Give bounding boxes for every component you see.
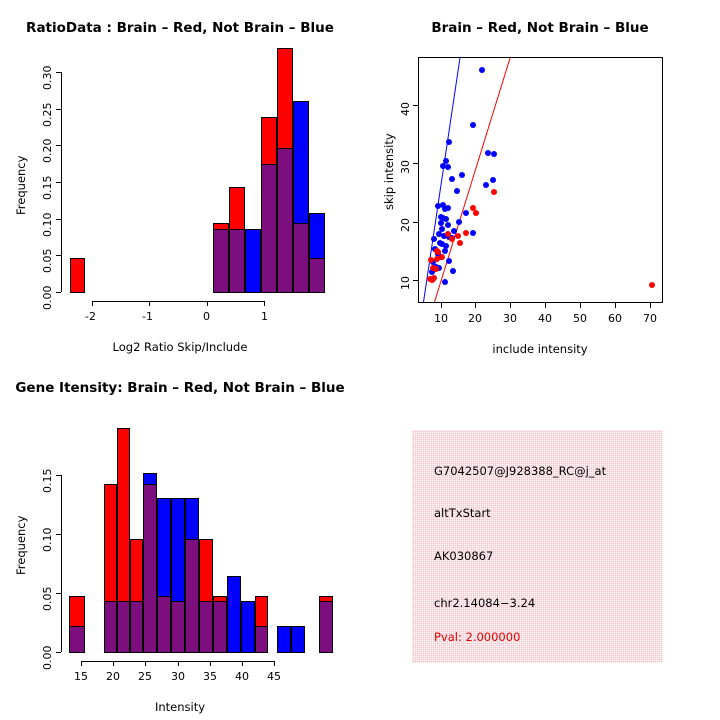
ratio-ytick-1: 0.05 xyxy=(41,249,54,274)
bar-overlap xyxy=(309,258,325,293)
scatter-point xyxy=(454,188,460,194)
gene-xtick-4: 35 xyxy=(203,670,217,683)
bar-blue xyxy=(227,576,241,653)
scatter-point xyxy=(445,164,451,170)
scatter-point xyxy=(439,226,445,232)
gene-ytick-2: 0.10 xyxy=(41,528,54,553)
scatter-point xyxy=(449,236,455,242)
gene-ytick-1: 0.05 xyxy=(41,587,54,612)
ratio-ytick-2: 0.10 xyxy=(41,213,54,238)
scatter-point xyxy=(456,219,462,225)
ratio-xtick-1: -1 xyxy=(142,310,153,323)
scatter-plot-frame xyxy=(418,57,663,303)
ratio-xtick-3: 1 xyxy=(261,310,268,323)
ratio-ytick-5: 0.25 xyxy=(41,103,54,128)
scatter-point xyxy=(431,236,437,242)
bar-overlap xyxy=(171,601,185,653)
bar-overlap xyxy=(117,601,130,653)
scatter-point xyxy=(445,222,451,228)
bar-blue xyxy=(245,229,261,293)
panel-gene-info: G7042507@J928388_RC@j_at altTxStart AK03… xyxy=(412,430,663,663)
bar-overlap xyxy=(130,601,143,653)
scatter-point xyxy=(455,233,461,239)
scatter-point xyxy=(463,230,469,236)
scatter-xtick-4: 50 xyxy=(573,312,587,325)
scatter-point xyxy=(431,275,437,281)
gene-xtick-3: 30 xyxy=(171,670,185,683)
fit-line-brain xyxy=(434,57,511,302)
bar-overlap xyxy=(319,601,333,653)
bar-overlap xyxy=(213,229,229,293)
gene-ytick-3: 0.15 xyxy=(41,469,54,494)
ratio-ytick-0: 0.00 xyxy=(41,286,54,311)
bar-overlap xyxy=(104,601,117,653)
bar-overlap xyxy=(277,148,293,293)
scatter-ytick-3: 40 xyxy=(399,102,412,116)
ratio-ytick-3: 0.15 xyxy=(41,176,54,201)
scatter-point xyxy=(450,268,456,274)
info-event-type: altTxStart xyxy=(434,506,491,520)
gene-histogram-title: Gene Itensity: Brain – Red, Not Brain – … xyxy=(0,380,360,396)
scatter-point xyxy=(446,139,452,145)
fit-line-not-brain xyxy=(423,57,461,302)
bar-overlap xyxy=(255,626,268,653)
scatter-ylabel: skip intensity xyxy=(382,133,396,210)
ratio-xtick-0: -2 xyxy=(85,310,96,323)
gene-histogram-xlabel: Intensity xyxy=(0,700,360,714)
scatter-point xyxy=(442,279,448,285)
bar-overlap xyxy=(261,164,277,293)
scatter-xtick-5: 60 xyxy=(608,312,622,325)
panel-gene-histogram: Gene Itensity: Brain – Red, Not Brain – … xyxy=(0,360,360,720)
scatter-point xyxy=(439,254,445,260)
scatter-point xyxy=(491,189,497,195)
gene-xtick-5: 40 xyxy=(235,670,249,683)
scatter-xtick-0: 10 xyxy=(434,312,448,325)
bar-blue xyxy=(277,626,291,653)
scatter-point xyxy=(433,266,439,272)
scatter-point xyxy=(649,282,655,288)
gene-xtick-2: 25 xyxy=(138,670,152,683)
scatter-point xyxy=(445,231,451,237)
scatter-point xyxy=(459,172,465,178)
panel-scatter: Brain – Red, Not Brain – Blue skip inten… xyxy=(360,0,720,360)
bar-overlap xyxy=(157,596,171,653)
scatter-point xyxy=(457,240,463,246)
ratio-ytick-4: 0.20 xyxy=(41,139,54,164)
scatter-point xyxy=(479,67,485,73)
bar-blue xyxy=(241,601,255,653)
scatter-point xyxy=(473,210,479,216)
bar-overlap xyxy=(69,626,85,653)
bar-overlap xyxy=(185,539,199,653)
scatter-point xyxy=(449,176,455,182)
gene-xtick-6: 45 xyxy=(267,670,281,683)
gene-ytick-0: 0.00 xyxy=(41,646,54,671)
figure-canvas: RatioData : Brain – Red, Not Brain – Blu… xyxy=(0,0,720,720)
scatter-point xyxy=(490,177,496,183)
scatter-point xyxy=(483,182,489,188)
scatter-xtick-6: 70 xyxy=(643,312,657,325)
ratio-ytick-6: 0.30 xyxy=(41,66,54,91)
scatter-point xyxy=(445,205,451,211)
bar-overlap xyxy=(199,601,213,653)
scatter-xlabel: include intensity xyxy=(360,342,720,356)
scatter-point xyxy=(463,210,469,216)
bar-overlap xyxy=(293,223,309,293)
ratio-histogram-xlabel: Log2 Ratio Skip/Include xyxy=(0,340,360,354)
gene-histogram-ylabel: Frequency xyxy=(14,516,28,575)
bar-overlap xyxy=(229,229,245,293)
scatter-xtick-1: 20 xyxy=(468,312,482,325)
scatter-point xyxy=(446,258,452,264)
gene-xtick-0: 15 xyxy=(74,670,88,683)
scatter-point xyxy=(470,230,476,236)
scatter-ytick-1: 20 xyxy=(399,218,412,232)
scatter-point xyxy=(470,122,476,128)
scatter-xtick-2: 30 xyxy=(503,312,517,325)
bar-red xyxy=(70,258,85,293)
gene-xtick-1: 20 xyxy=(106,670,120,683)
scatter-point xyxy=(491,151,497,157)
scatter-xtick-3: 40 xyxy=(538,312,552,325)
info-accession: AK030867 xyxy=(434,549,493,563)
scatter-ytick-0: 10 xyxy=(399,276,412,290)
scatter-title: Brain – Red, Not Brain – Blue xyxy=(360,20,720,36)
panel-ratio-histogram: RatioData : Brain – Red, Not Brain – Blu… xyxy=(0,0,360,360)
info-probe-id: G7042507@J928388_RC@j_at xyxy=(434,464,606,478)
scatter-ytick-2: 30 xyxy=(399,160,412,174)
scatter-point xyxy=(442,248,448,254)
bar-overlap xyxy=(213,601,227,653)
info-pval: Pval: 2.000000 xyxy=(434,630,520,644)
ratio-xtick-2: 0 xyxy=(203,310,210,323)
bar-overlap xyxy=(143,484,157,653)
info-locus: chr2.14084−3.24 xyxy=(434,596,535,610)
bar-blue xyxy=(291,626,305,653)
